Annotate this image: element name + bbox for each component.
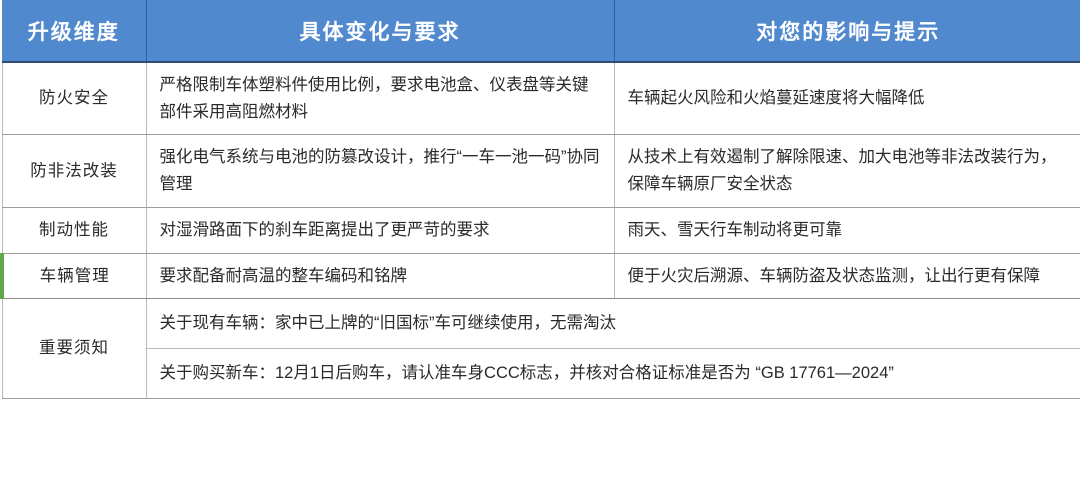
- header-changes: 具体变化与要求: [146, 0, 614, 62]
- standard-upgrade-table: 升级维度 具体变化与要求 对您的影响与提示 防火安全 严格限制车体塑料件使用比例…: [0, 0, 1080, 399]
- table-row: 防火安全 严格限制车体塑料件使用比例，要求电池盒、仪表盘等关键部件采用高阻燃材料…: [2, 62, 1080, 135]
- cell-changes: 要求配备耐高温的整车编码和铭牌: [146, 253, 614, 299]
- table-header: 升级维度 具体变化与要求 对您的影响与提示: [2, 0, 1080, 62]
- cell-dimension: 车辆管理: [2, 253, 146, 299]
- cell-impact: 从技术上有效遏制了解除限速、加大电池等非法改装行为，保障车辆原厂安全状态: [614, 135, 1080, 207]
- cell-changes: 严格限制车体塑料件使用比例，要求电池盒、仪表盘等关键部件采用高阻燃材料: [146, 62, 614, 135]
- cell-impact: 便于火灾后溯源、车辆防盗及状态监测，让出行更有保障: [614, 253, 1080, 299]
- cell-notice-new-vehicles: 关于购买新车：12月1日后购车，请认准车身CCC标志，并核对合格证标准是否为 “…: [146, 349, 1080, 399]
- cell-impact: 雨天、雪天行车制动将更可靠: [614, 207, 1080, 253]
- table-row-notice-second: 关于购买新车：12月1日后购车，请认准车身CCC标志，并核对合格证标准是否为 “…: [2, 349, 1080, 399]
- header-impact: 对您的影响与提示: [614, 0, 1080, 62]
- table-row-highlighted: 车辆管理 要求配备耐高温的整车编码和铭牌 便于火灾后溯源、车辆防盗及状态监测，让…: [2, 253, 1080, 299]
- cell-dimension-notice: 重要须知: [2, 299, 146, 398]
- cell-changes: 强化电气系统与电池的防篡改设计，推行“一车一池一码”协同管理: [146, 135, 614, 207]
- cell-notice-existing-vehicles: 关于现有车辆：家中已上牌的“旧国标”车可继续使用，无需淘汰: [146, 299, 1080, 349]
- cell-dimension: 防非法改装: [2, 135, 146, 207]
- header-dimension: 升级维度: [2, 0, 146, 62]
- table-row: 防非法改装 强化电气系统与电池的防篡改设计，推行“一车一池一码”协同管理 从技术…: [2, 135, 1080, 207]
- spec-table-container: 升级维度 具体变化与要求 对您的影响与提示 防火安全 严格限制车体塑料件使用比例…: [0, 0, 1080, 483]
- cell-dimension: 防火安全: [2, 62, 146, 135]
- cell-changes: 对湿滑路面下的刹车距离提出了更严苛的要求: [146, 207, 614, 253]
- table-body: 防火安全 严格限制车体塑料件使用比例，要求电池盒、仪表盘等关键部件采用高阻燃材料…: [2, 62, 1080, 398]
- table-row: 制动性能 对湿滑路面下的刹车距离提出了更严苛的要求 雨天、雪天行车制动将更可靠: [2, 207, 1080, 253]
- cell-impact: 车辆起火风险和火焰蔓延速度将大幅降低: [614, 62, 1080, 135]
- table-row-notice-first: 重要须知 关于现有车辆：家中已上牌的“旧国标”车可继续使用，无需淘汰: [2, 299, 1080, 349]
- table-header-row: 升级维度 具体变化与要求 对您的影响与提示: [2, 0, 1080, 62]
- cell-dimension: 制动性能: [2, 207, 146, 253]
